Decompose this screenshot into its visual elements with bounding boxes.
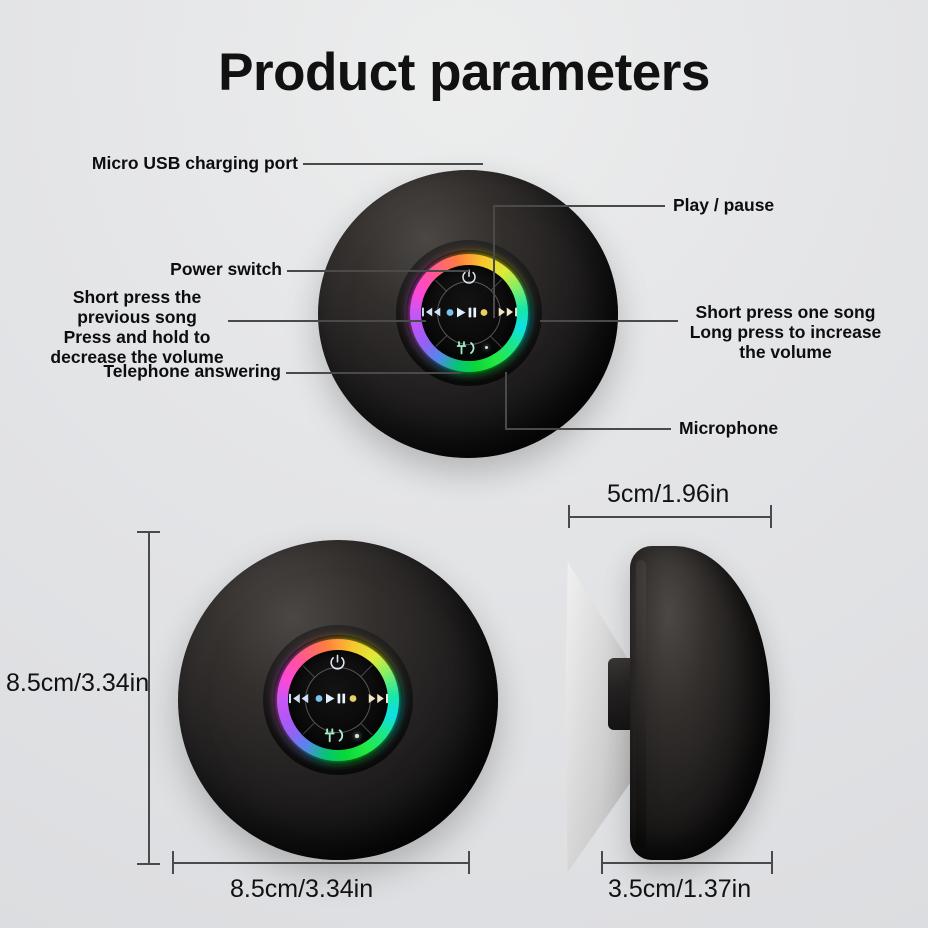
dimension-cap-depth-left	[601, 851, 603, 874]
leader-telephone-answering	[286, 372, 461, 374]
dimension-line-side-depth	[601, 862, 773, 864]
speaker-front-view	[178, 540, 498, 860]
previous-track-icon[interactable]	[289, 691, 309, 706]
label-previous-song: Short press the previous song Press and …	[48, 288, 226, 368]
speaker-top-view	[318, 170, 618, 458]
label-next-song: Short press one song Long press to incre…	[678, 303, 893, 363]
dimension-line-front-height	[148, 531, 150, 865]
leader-microphone	[505, 428, 671, 430]
dimension-label-front-height: 8.5cm/3.34in	[6, 669, 149, 698]
leader-play-pause-elbow	[493, 205, 495, 318]
next-track-icon[interactable]	[498, 305, 517, 319]
dimension-cap-side-left	[568, 505, 570, 528]
page-title: Product parameters	[0, 42, 928, 103]
leader-microphone-elbow	[505, 372, 507, 430]
rgb-led-ring-front	[277, 639, 399, 761]
speaker-side-seam	[636, 560, 646, 848]
label-micro-usb: Micro USB charging port	[60, 154, 298, 174]
dimension-cap-right	[468, 851, 470, 874]
dimension-cap-side-right	[770, 505, 772, 528]
leader-next-song	[540, 320, 678, 322]
microphone-dot	[355, 734, 359, 738]
rgb-led-ring	[410, 254, 528, 372]
dimension-cap-top	[137, 531, 160, 533]
speaker-side-view	[630, 546, 770, 860]
dimension-cap-depth-right	[771, 851, 773, 874]
phone-answer-icon[interactable]	[456, 340, 482, 356]
dimension-cap-bottom	[137, 863, 160, 865]
leader-previous-song	[228, 320, 426, 322]
leader-play-pause	[493, 205, 665, 207]
previous-track-icon[interactable]	[422, 305, 441, 319]
play-pause-icon[interactable]	[446, 306, 492, 319]
dimension-label-front-width: 8.5cm/3.34in	[230, 875, 373, 904]
phone-answer-icon[interactable]	[324, 727, 351, 744]
play-pause-icon[interactable]	[314, 692, 362, 705]
label-play-pause: Play / pause	[673, 196, 873, 216]
label-power-switch: Power switch	[60, 260, 282, 280]
power-icon[interactable]	[328, 653, 347, 672]
label-telephone-answering: Telephone answering	[48, 362, 281, 382]
leader-power-switch	[287, 270, 469, 272]
leader-micro-usb	[303, 163, 483, 165]
dimension-label-side-depth: 3.5cm/1.37in	[608, 875, 751, 904]
infographic-canvas: Product parameters	[0, 0, 928, 928]
dimension-label-side-height: 5cm/1.96in	[607, 480, 729, 509]
next-track-icon[interactable]	[368, 691, 388, 706]
dimension-line-side-height	[568, 516, 772, 518]
dimension-cap-left	[172, 851, 174, 874]
dimension-line-front-width	[172, 862, 470, 864]
label-microphone: Microphone	[679, 419, 859, 439]
